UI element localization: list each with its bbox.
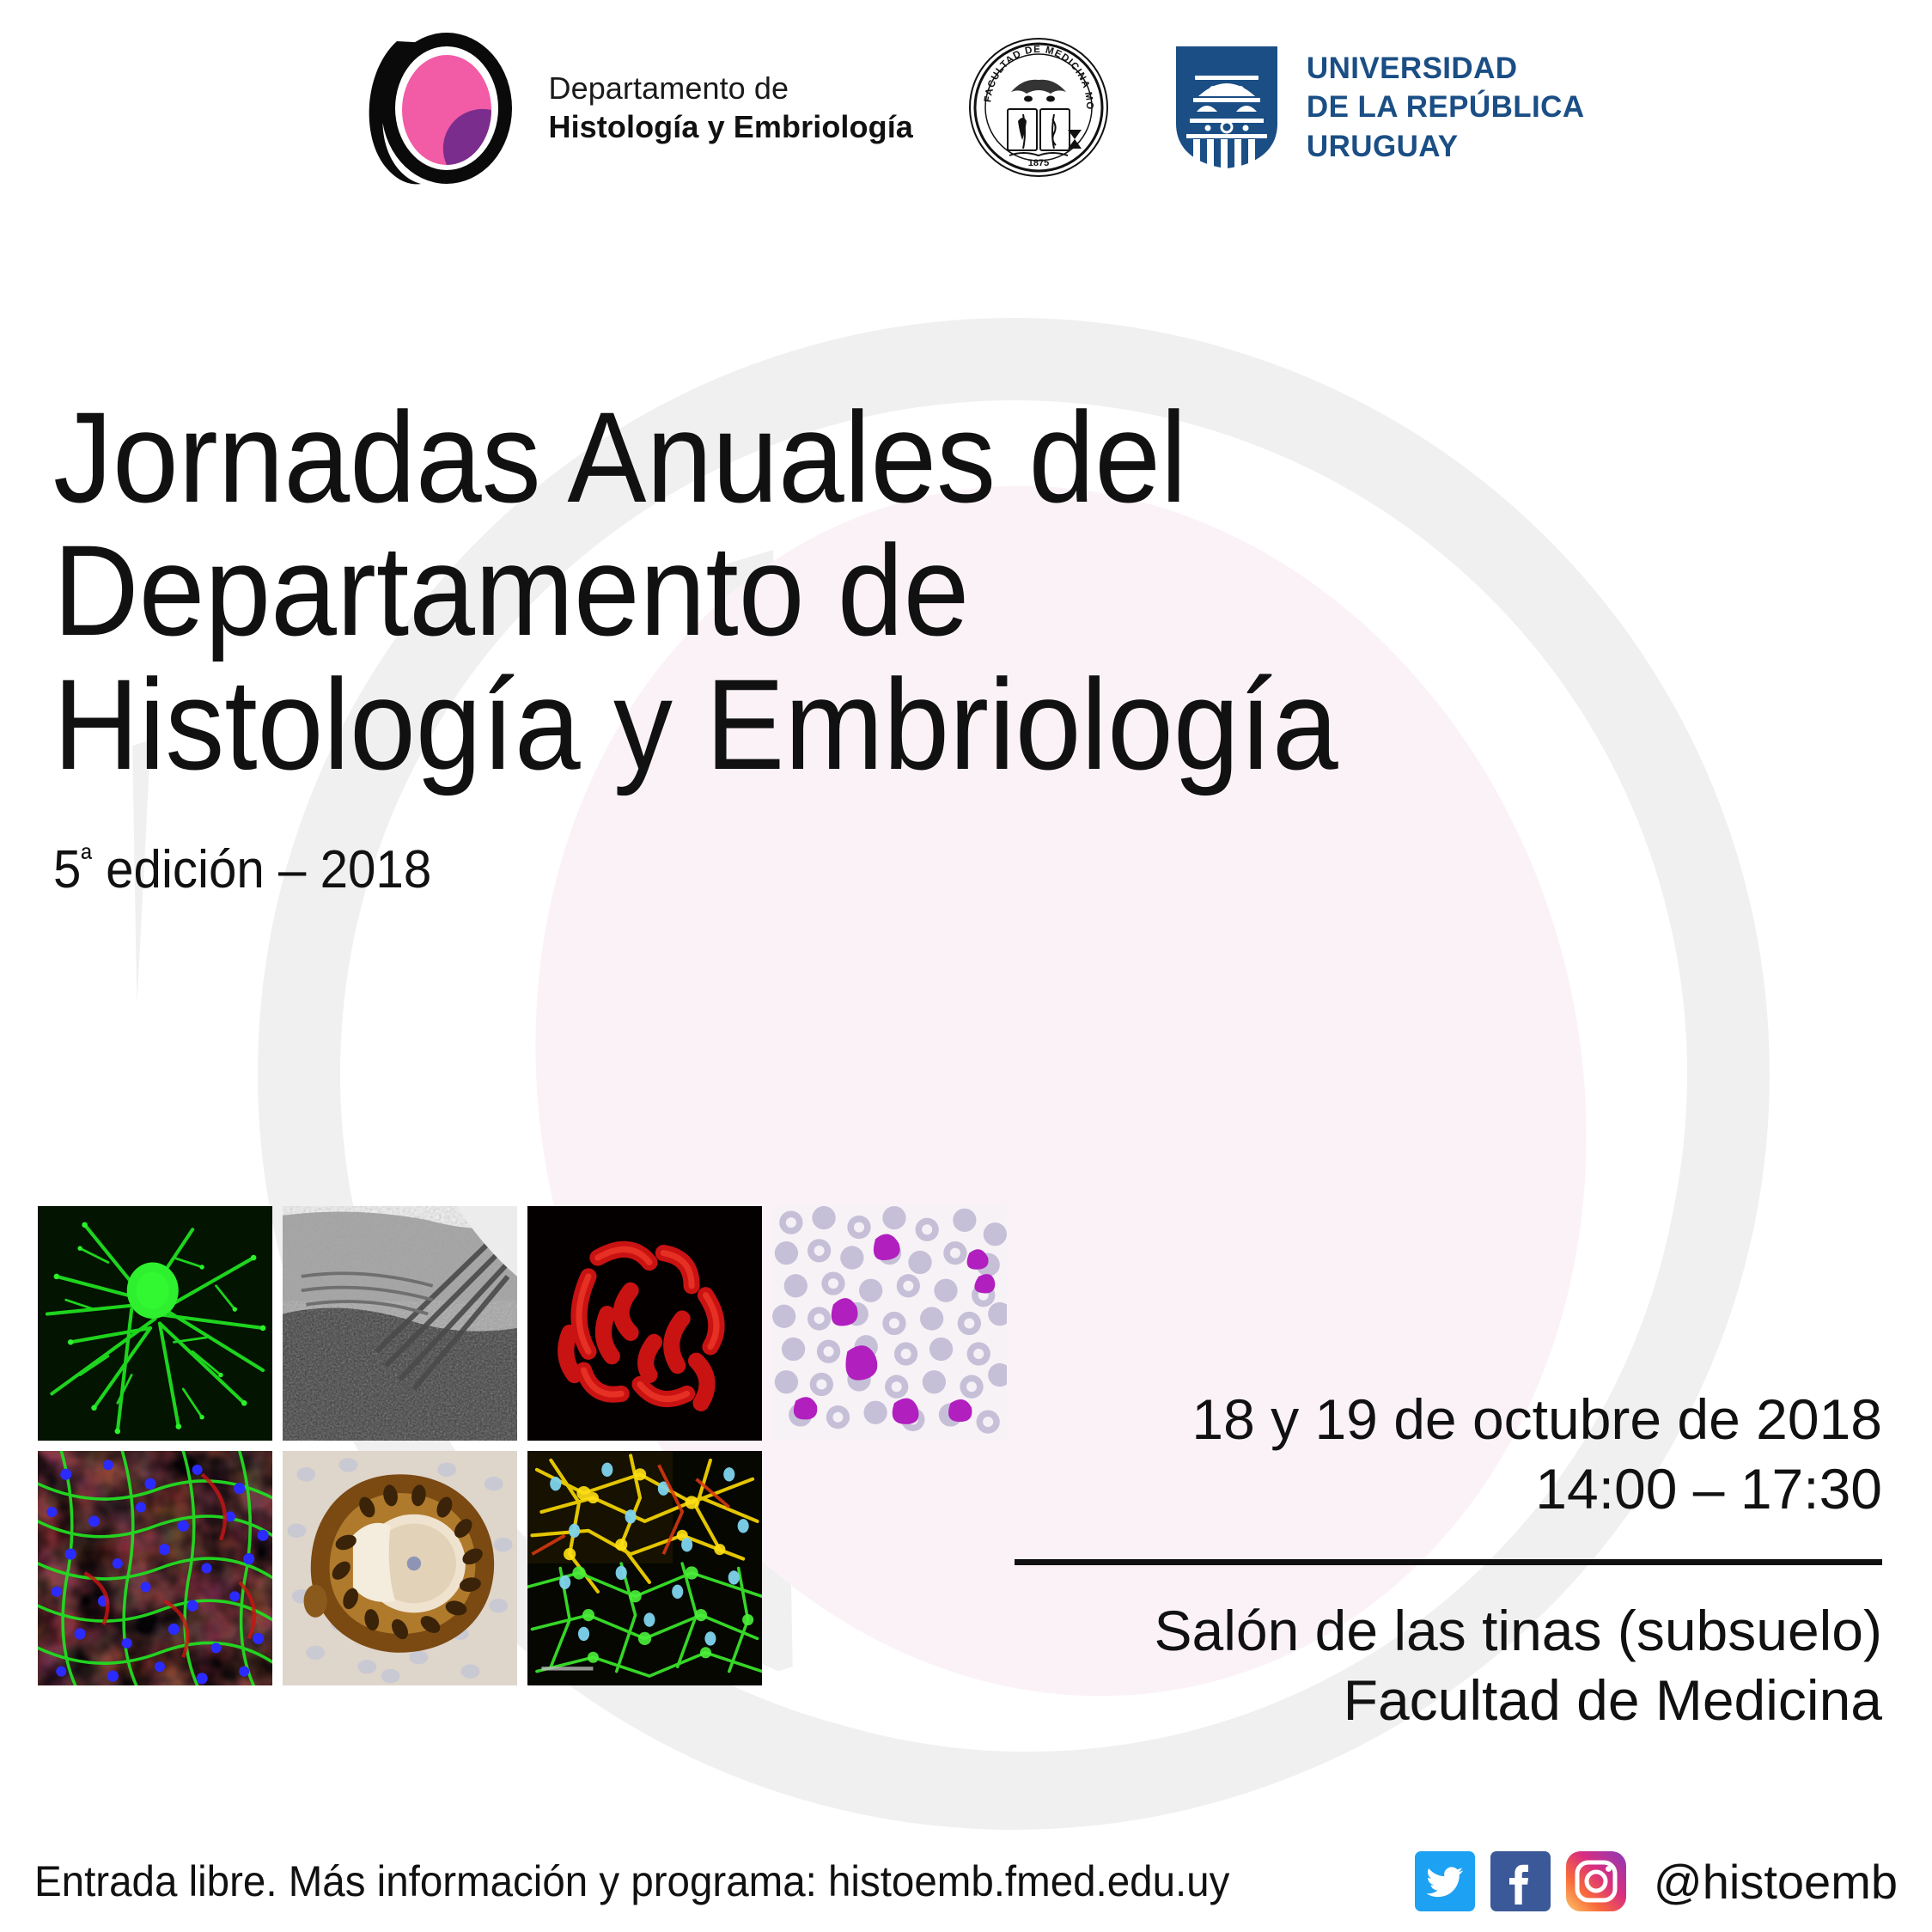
instagram-icon[interactable] — [1566, 1851, 1626, 1911]
footer-bar: Entrada libre. Más información y program… — [0, 1851, 1932, 1911]
department-logo: Departamento de Histología y Embriología — [347, 26, 912, 189]
udelar-shield-icon — [1173, 45, 1281, 170]
multicolor-fluorescence-tissue — [38, 1451, 272, 1685]
dab-stained-gland — [283, 1451, 517, 1685]
title-line-2: Departamento de — [53, 524, 1618, 657]
chromosome-spread-red — [527, 1206, 762, 1441]
department-logo-text: Departamento de Histología y Embriología — [548, 69, 912, 147]
title-line-3: Histología y Embriología — [53, 658, 1618, 791]
event-time: 14:00 – 17:30 — [1015, 1454, 1882, 1524]
udelar-logo: UNIVERSIDAD DE LA REPÚBLICA URUGUAY — [1173, 45, 1585, 170]
social-handle: @histoemb — [1654, 1854, 1898, 1910]
facebook-icon[interactable] — [1490, 1851, 1551, 1911]
udelar-line3: URUGUAY — [1307, 127, 1585, 167]
title-block: Jornadas Anuales del Departamento de His… — [53, 391, 1754, 900]
edition-ordinal: ª — [81, 840, 92, 875]
department-logo-line2: Histología y Embriología — [548, 107, 912, 146]
venue-line1: Salón de las tinas (subsuelo) — [1015, 1596, 1882, 1666]
department-logo-line1: Departamento de — [548, 69, 912, 107]
fluorescent-neuron-green — [38, 1206, 272, 1441]
edition-rest: edición – 2018 — [92, 840, 431, 899]
electron-micrograph-grayscale — [283, 1206, 517, 1441]
udelar-line1: UNIVERSIDAD — [1307, 49, 1585, 88]
header-logo-bar: Departamento de Histología y Embriología… — [0, 0, 1932, 215]
event-date: 18 y 19 de octubre de 2018 — [1015, 1385, 1882, 1454]
blood-smear-giemsa — [772, 1206, 1007, 1441]
facultad-medicina-seal-icon: FACULTAD DE MEDICINA MONTEVIDEO 1875 — [966, 35, 1111, 180]
edition-number: 5 — [53, 840, 81, 899]
footer-note: Entrada libre. Más información y program… — [34, 1856, 1229, 1906]
neuronal-network-yellow-green — [527, 1451, 762, 1685]
cell-logo-icon — [347, 26, 526, 189]
venue-line2: Facultad de Medicina — [1015, 1666, 1882, 1735]
event-info-block: 18 y 19 de octubre de 2018 14:00 – 17:30… — [1015, 1385, 1882, 1734]
social-links: @histoemb — [1415, 1851, 1898, 1911]
udelar-logo-text: UNIVERSIDAD DE LA REPÚBLICA URUGUAY — [1307, 49, 1585, 167]
udelar-line2: DE LA REPÚBLICA — [1307, 88, 1585, 127]
micrograph-gallery — [38, 1206, 1007, 1685]
title-line-1: Jornadas Anuales del — [53, 391, 1618, 524]
info-divider — [1015, 1559, 1882, 1565]
poster-canvas: Departamento de Histología y Embriología… — [0, 0, 1932, 1932]
twitter-icon[interactable] — [1415, 1851, 1475, 1911]
edition-subtitle: 5ª edición – 2018 — [53, 839, 1652, 900]
svg-text:1875: 1875 — [1028, 158, 1049, 168]
